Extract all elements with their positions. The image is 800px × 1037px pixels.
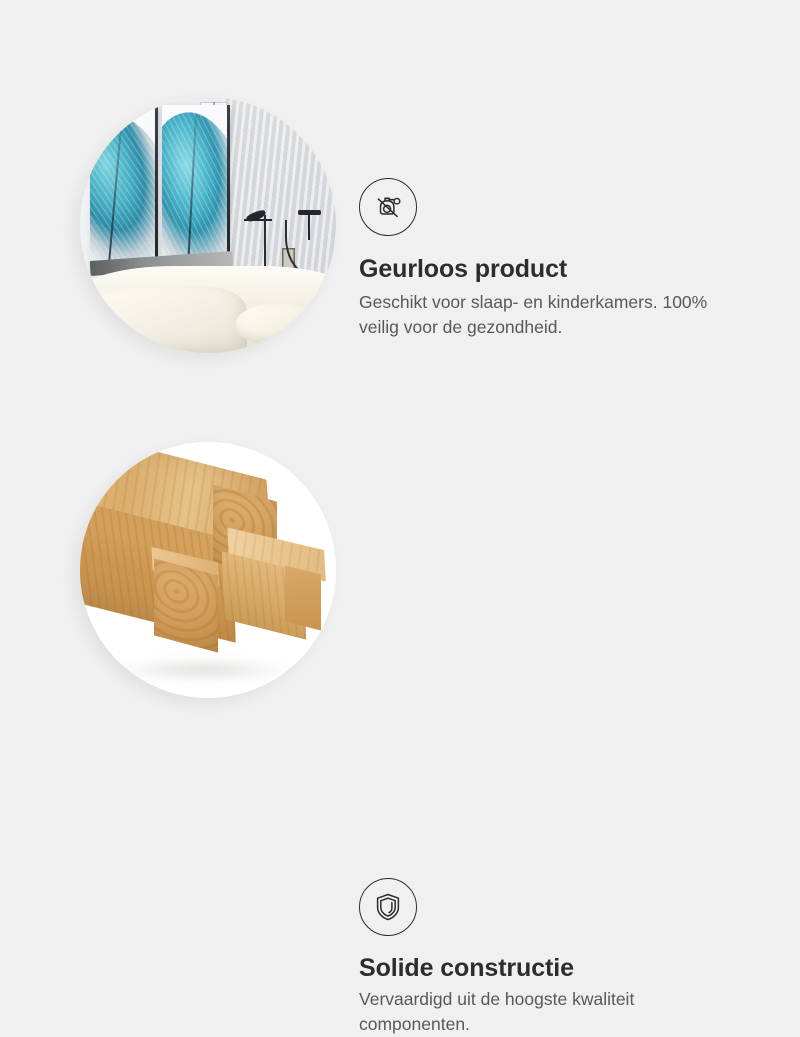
lower-block-end-grain: [154, 559, 218, 653]
canvas-panel-left: [90, 105, 157, 282]
circular-image-mask: [80, 442, 336, 698]
feature-image-odourless: [80, 97, 336, 353]
circular-image-mask: [80, 97, 336, 353]
no-fragrance-glyph: [370, 189, 406, 225]
feature-description: Vervaardigd uit de hoogste kwaliteit com…: [359, 987, 749, 1037]
feature-block-odourless: Geurloos product Geschikt voor slaap- en…: [0, 45, 800, 405]
feather-barbs: [90, 105, 157, 282]
feature-block-solid-construction: Solide constructie Vervaardigd uit de ho…: [0, 390, 800, 750]
feature-title: Geurloos product: [359, 256, 567, 284]
pillow: [236, 303, 330, 345]
feature-description: Geschikt voor slaap- en kinderkamers. 10…: [359, 290, 749, 340]
feature-page: Geurloos product Geschikt voor slaap- en…: [0, 0, 800, 800]
wooden-beams-scene: [80, 442, 336, 698]
feature-title: Solide constructie: [359, 955, 574, 983]
bed: [80, 266, 336, 353]
shield-glyph: [371, 890, 405, 924]
shield-icon: [359, 878, 417, 936]
duvet: [80, 286, 247, 353]
feather-art-left: [90, 105, 157, 282]
no-fragrance-icon: [359, 178, 417, 236]
right-beam-end-grain: [285, 566, 321, 631]
panel-divider: [155, 105, 158, 282]
feature-image-solid-construction: [80, 442, 336, 698]
wood-contact-shadow: [111, 657, 295, 683]
wall-sconce-stem: [308, 215, 310, 241]
bedroom-scene: [80, 97, 336, 353]
